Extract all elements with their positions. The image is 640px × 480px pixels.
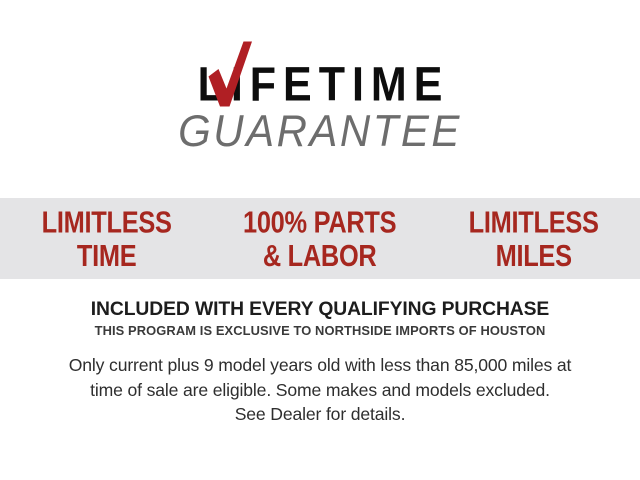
- feature-line-1: LIMITLESS: [6, 205, 207, 239]
- feature-line-2: & LABOR: [220, 239, 421, 273]
- fineprint-line-3: See Dealer for details.: [38, 402, 602, 427]
- features-band: LIMITLESS TIME 100% PARTS & LABOR LIMITL…: [0, 198, 640, 279]
- logo-guarantee-row: GUARANTEE: [0, 108, 640, 154]
- feature-column-limitless-miles: LIMITLESS MILES: [433, 205, 634, 272]
- feature-line-2: TIME: [6, 239, 207, 273]
- feature-column-parts-labor: 100% PARTS & LABOR: [220, 205, 421, 272]
- feature-line-2: MILES: [433, 239, 634, 273]
- feature-line-1: 100% PARTS: [220, 205, 421, 239]
- logo-lifetime-row: LIFETIME: [0, 60, 640, 108]
- fineprint-line-2: time of sale are eligible. Some makes an…: [38, 378, 602, 403]
- headline-included: INCLUDED WITH EVERY QUALIFYING PURCHASE: [3, 298, 637, 320]
- disclaimer-block: INCLUDED WITH EVERY QUALIFYING PURCHASE …: [0, 279, 640, 427]
- feature-line-1: LIMITLESS: [433, 205, 634, 239]
- fineprint-line-1: Only current plus 9 model years old with…: [38, 353, 602, 378]
- subheadline-exclusive: THIS PROGRAM IS EXCLUSIVE TO NORTHSIDE I…: [10, 322, 631, 339]
- logo-lifetime-text: LIFETIME: [191, 60, 450, 109]
- logo-guarantee-text: GUARANTEE: [178, 108, 462, 154]
- fineprint-paragraph: Only current plus 9 model years old with…: [38, 353, 602, 427]
- logo-block: LIFETIME GUARANTEE: [0, 0, 640, 198]
- feature-column-limitless-time: LIMITLESS TIME: [6, 205, 207, 272]
